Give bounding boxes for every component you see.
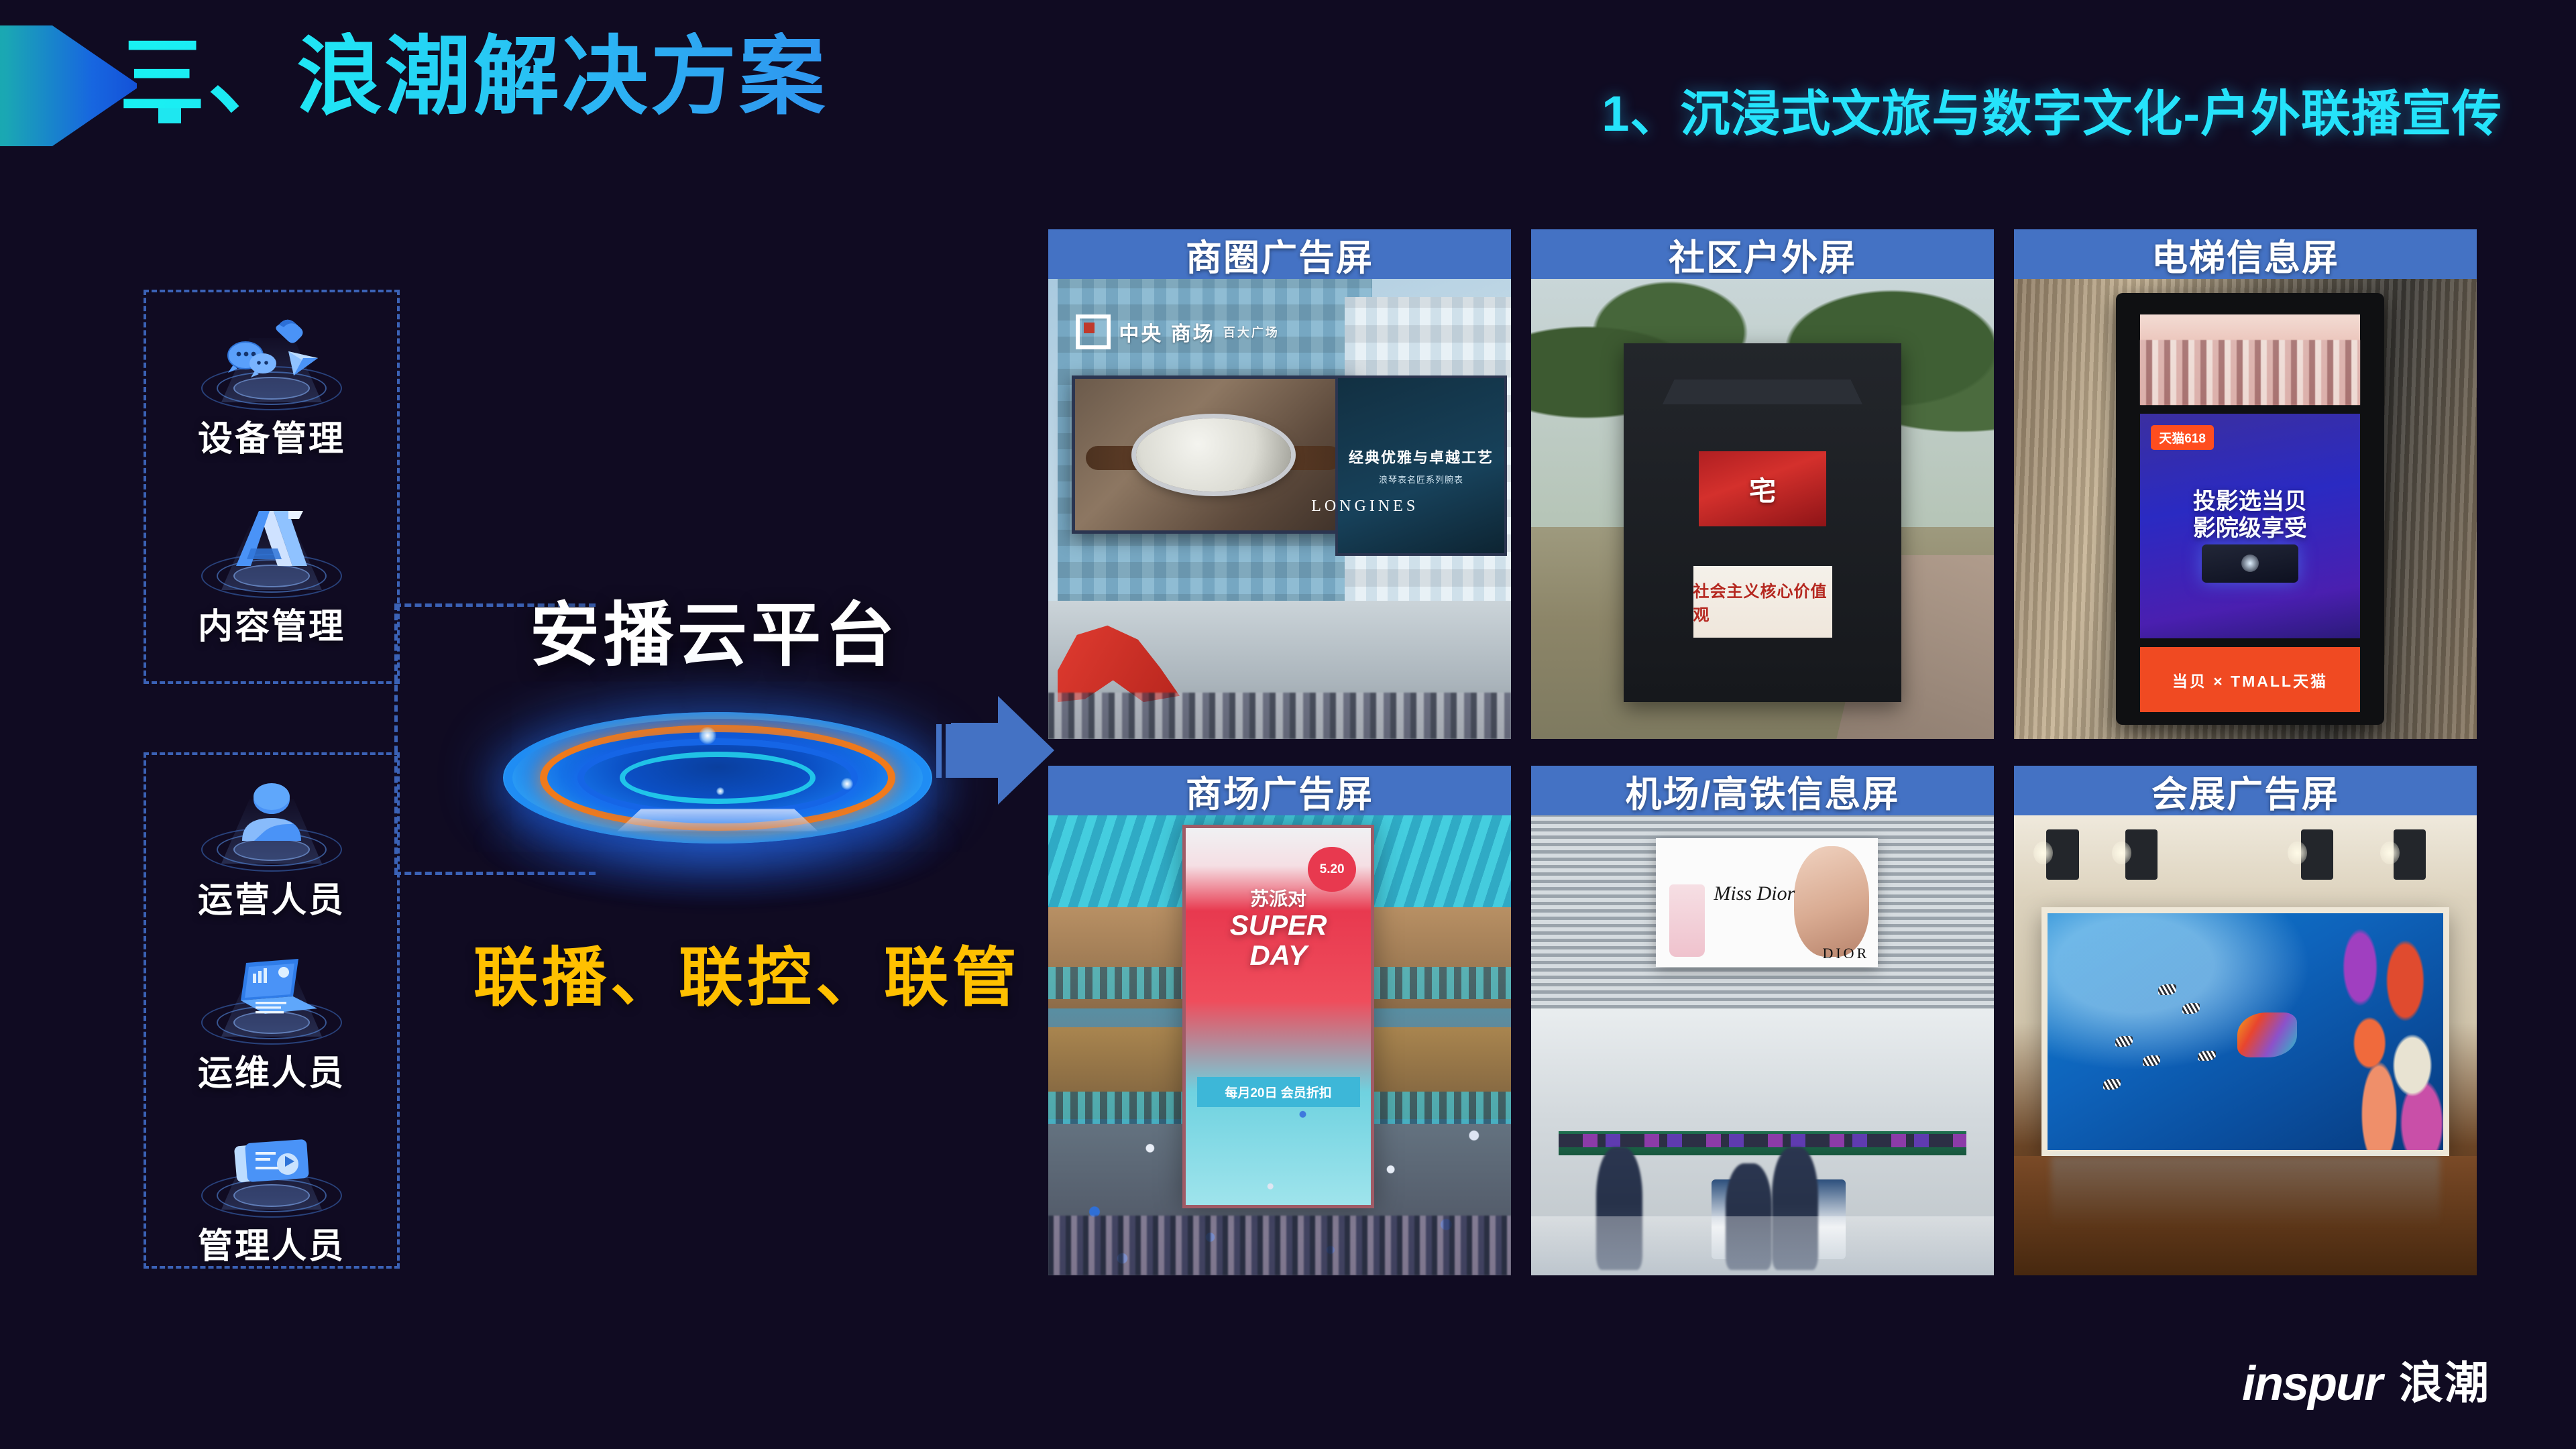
- sidebar-item-label: 运维人员: [146, 1045, 397, 1095]
- gallery-card-header: 会展广告屏: [2014, 766, 2477, 815]
- photo-community-outdoor-kiosk: 宅 社会主义核心价值观: [1531, 279, 1994, 739]
- ad-footer-text: 当贝 × TMALL天猫: [2172, 669, 2328, 691]
- photo-airport-terminal-billboard: Miss Dior DIOR: [1531, 815, 1994, 1275]
- ad-headline-line1: 投影选当贝: [2193, 489, 2307, 514]
- ad-subline: 浪琴表名匠系列腕表: [1379, 473, 1463, 485]
- gallery-card-header: 商圈广告屏: [1048, 229, 1511, 279]
- sidebar-item-content-management[interactable]: 内容管理: [146, 494, 397, 648]
- ad-badge: 天猫618: [2151, 425, 2214, 450]
- platform-title: 安播云平台: [530, 578, 899, 679]
- page-subtitle: 1、沉浸式文旅与数字文化-户外联播宣传: [1602, 74, 2502, 146]
- cloud-platform-podium: [469, 677, 966, 878]
- letter-a-3d-icon: [194, 494, 349, 594]
- media-cards-icon: [194, 1113, 349, 1214]
- projector-product-image: [2202, 544, 2298, 583]
- ad-headline-line2: 影院级享受: [2193, 516, 2307, 541]
- gallery-card-header: 电梯信息屏: [2014, 229, 2477, 279]
- center-tagline: 联播、联控、联管: [473, 925, 1021, 1019]
- people-group-box: 运营人员 运维人员: [144, 752, 400, 1269]
- kiosk-poster: 社会主义核心价值观: [1693, 566, 1832, 638]
- sidebar-item-label: 管理人员: [146, 1218, 397, 1268]
- sidebar-item-device-management[interactable]: 设备管理: [146, 306, 397, 461]
- letter-a-3d-glyph: [221, 503, 322, 577]
- connector-vertical: [394, 603, 398, 874]
- sidebar-item-label: 内容管理: [146, 598, 397, 648]
- gallery-card-title: 机场/高铁信息屏: [1625, 766, 1899, 817]
- screen-gallery-grid: 商圈广告屏 中央 商场 百大广场 LONGINES 经典优雅与卓越工艺: [1048, 229, 2477, 1275]
- campaign-en-line1: SUPER: [1230, 909, 1327, 941]
- building-logo-cn2: 百大广场: [1223, 323, 1280, 341]
- sidebar-item-maintenance-staff[interactable]: 运维人员: [146, 940, 397, 1095]
- gallery-card-exhibition[interactable]: 会展广告屏: [2014, 766, 2477, 1275]
- user-avatar-glyph: [225, 780, 319, 850]
- led-screen-brand-panel: LONGINES 经典优雅与卓越工艺 浪琴表名匠系列腕表: [1335, 375, 1507, 556]
- gallery-card-shopping-mall[interactable]: 商场广告屏 5.20 苏派对 SUPER DAY 每月20日 会员折扣: [1048, 766, 1511, 1275]
- photo-mall-atrium-led-column: 5.20 苏派对 SUPER DAY 每月20日 会员折扣: [1048, 815, 1511, 1275]
- campaign-en-line2: DAY: [1249, 939, 1307, 971]
- gallery-card-header: 社区户外屏: [1531, 229, 1994, 279]
- elevator-ad: 天猫618 投影选当贝 影院级享受: [2140, 414, 2360, 638]
- media-cards-glyph: [218, 1129, 325, 1196]
- sidebar-item-operations-staff[interactable]: 运营人员: [146, 767, 397, 922]
- gallery-card-title: 电梯信息屏: [2151, 229, 2339, 281]
- gallery-card-title: 商圈广告屏: [1186, 229, 1374, 281]
- inspur-logo: inspur 浪潮: [2242, 1347, 2490, 1411]
- campaign-en: SUPER DAY: [1186, 911, 1371, 970]
- photo-exhibition-hall-led-wall: [2014, 815, 2477, 1275]
- gallery-card-airport[interactable]: 机场/高铁信息屏 Miss Dior DIOR: [1531, 766, 1994, 1275]
- ad-footer: 当贝 × TMALL天猫: [2140, 647, 2360, 712]
- slide-root: 三、浪潮解决方案 1、沉浸式文旅与数字文化-户外联播宣传: [0, 0, 2576, 1449]
- ad-brand: LONGINES: [1311, 498, 1418, 516]
- page-title: 三、浪潮解决方案: [119, 32, 828, 122]
- chat-phone-mail-icon: [194, 306, 349, 406]
- gallery-card-elevator[interactable]: 电梯信息屏 天猫618 投影选当贝 影院级享受 当贝 × TMAL: [2014, 229, 2477, 739]
- chevron-decoration: [0, 25, 137, 146]
- building-logo: 中央 商场 百大广场: [1076, 306, 1363, 357]
- kiosk-poster-text: 社会主义核心价值观: [1693, 578, 1832, 625]
- ad-brand: DIOR: [1822, 945, 1869, 962]
- ad-headline: 投影选当贝 影院级享受: [2140, 488, 2360, 542]
- sidebar-item-label: 设备管理: [146, 410, 397, 461]
- gallery-card-title: 商场广告屏: [1186, 766, 1374, 817]
- gallery-card-title: 社区户外屏: [1669, 229, 1856, 281]
- sidebar-item-admin-staff[interactable]: 管理人员: [146, 1113, 397, 1268]
- brand-name-en: inspur: [2242, 1356, 2382, 1411]
- kiosk-screen: 宅: [1699, 451, 1826, 526]
- ad-headline: 经典优雅与卓越工艺: [1349, 446, 1494, 467]
- laptop-dashboard-glyph: [218, 953, 325, 1023]
- ad-title: Miss Dior: [1714, 882, 1795, 905]
- led-video-wall: [2041, 907, 2449, 1155]
- management-group-box: 设备管理 内容管理: [144, 290, 400, 684]
- building-logo-cn: 中央 商场: [1119, 317, 1215, 347]
- chat-phone-mail-glyph: [215, 315, 329, 389]
- campaign-cn: 苏派对: [1186, 884, 1371, 911]
- sidebar-item-label: 运营人员: [146, 872, 397, 922]
- gallery-card-title: 会展广告屏: [2151, 766, 2339, 817]
- user-avatar-icon: [194, 767, 349, 868]
- gallery-card-community[interactable]: 社区户外屏 宅 社会主义核心价值观: [1531, 229, 1994, 739]
- right-arrow-icon: [936, 692, 1054, 810]
- gallery-card-mall-district[interactable]: 商圈广告屏 中央 商场 百大广场 LONGINES 经典优雅与卓越工艺: [1048, 229, 1511, 739]
- photo-mall-building-led-billboard: 中央 商场 百大广场 LONGINES 经典优雅与卓越工艺 浪琴表名匠系列腕表: [1048, 279, 1511, 739]
- kiosk-screen-text: 宅: [1749, 469, 1776, 508]
- gallery-card-header: 机场/高铁信息屏: [1531, 766, 1994, 815]
- photo-elevator-information-screen: 天猫618 投影选当贝 影院级享受 当贝 × TMALL天猫: [2014, 279, 2477, 739]
- laptop-dashboard-icon: [194, 940, 349, 1041]
- brand-name-cn: 浪潮: [2399, 1347, 2490, 1411]
- gallery-card-header: 商场广告屏: [1048, 766, 1511, 815]
- airport-billboard: Miss Dior DIOR: [1656, 838, 1878, 967]
